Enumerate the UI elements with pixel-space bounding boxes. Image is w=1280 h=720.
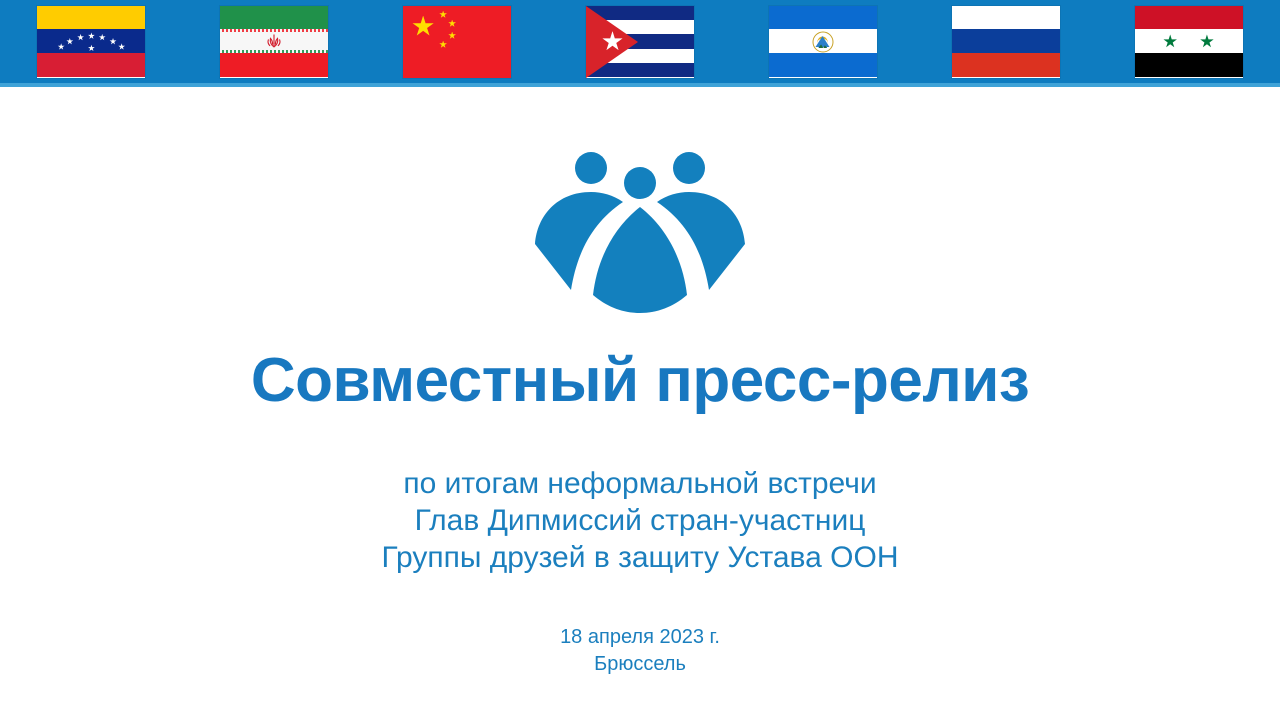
subtitle-line-3: Группы друзей в защиту Устава ООН: [0, 539, 1280, 576]
flag-strip: [0, 0, 1280, 83]
flag-cell-russia: [914, 6, 1097, 78]
flag-cell-iran: [183, 6, 366, 78]
nicaragua-blue-band-bottom: [769, 53, 877, 77]
iran-green-band: [220, 6, 328, 30]
iran-flag: [220, 6, 328, 78]
venezuela-red-band: [37, 53, 145, 77]
syria-star-1: [1163, 34, 1177, 48]
flag-cell-cuba: [549, 6, 732, 78]
three-figures-logo: [535, 140, 745, 315]
flag-cell-venezuela: [0, 6, 183, 78]
syria-black-band: [1135, 53, 1243, 77]
iran-emblem: [266, 33, 283, 50]
place-text: Брюссель: [0, 651, 1280, 678]
nicaragua-blue-band-top: [769, 6, 877, 30]
russia-flag: [952, 6, 1060, 78]
venezuela-yellow-band: [37, 6, 145, 30]
flag-cell-china: [366, 6, 549, 78]
date-text: 18 апреля 2023 г.: [0, 624, 1280, 651]
russia-white-band: [952, 6, 1060, 30]
cuba-flag: [586, 6, 694, 78]
venezuela-flag: [37, 6, 145, 78]
page-title: Совместный пресс-релиз: [0, 345, 1280, 416]
press-release-slide: Совместный пресс-релиз по итогам неформа…: [0, 0, 1280, 720]
syria-star-2: [1200, 34, 1214, 48]
syria-white-band: [1135, 29, 1243, 53]
russia-red-band: [952, 53, 1060, 77]
nicaragua-flag: [769, 6, 877, 78]
syria-flag: [1135, 6, 1243, 78]
iran-kufic-script-bottom: [220, 50, 328, 53]
flag-cell-syria: [1097, 6, 1280, 78]
venezuela-star-arc: [37, 29, 145, 53]
subtitle-block: по итогам неформальной встречи Глав Дипм…: [0, 465, 1280, 576]
russia-blue-band: [952, 29, 1060, 53]
date-place-block: 18 апреля 2023 г. Брюссель: [0, 624, 1280, 678]
subtitle-line-1: по итогам неформальной встречи: [0, 465, 1280, 502]
flag-cell-nicaragua: [731, 6, 914, 78]
subtitle-line-2: Глав Дипмиссий стран-участниц: [0, 502, 1280, 539]
china-red-field: [403, 6, 511, 78]
china-flag: [403, 6, 511, 78]
nicaragua-triangle: [816, 36, 830, 47]
nicaragua-emblem: [812, 31, 833, 52]
iran-red-band: [220, 53, 328, 77]
syria-red-band: [1135, 6, 1243, 30]
header-underline: [0, 83, 1280, 87]
